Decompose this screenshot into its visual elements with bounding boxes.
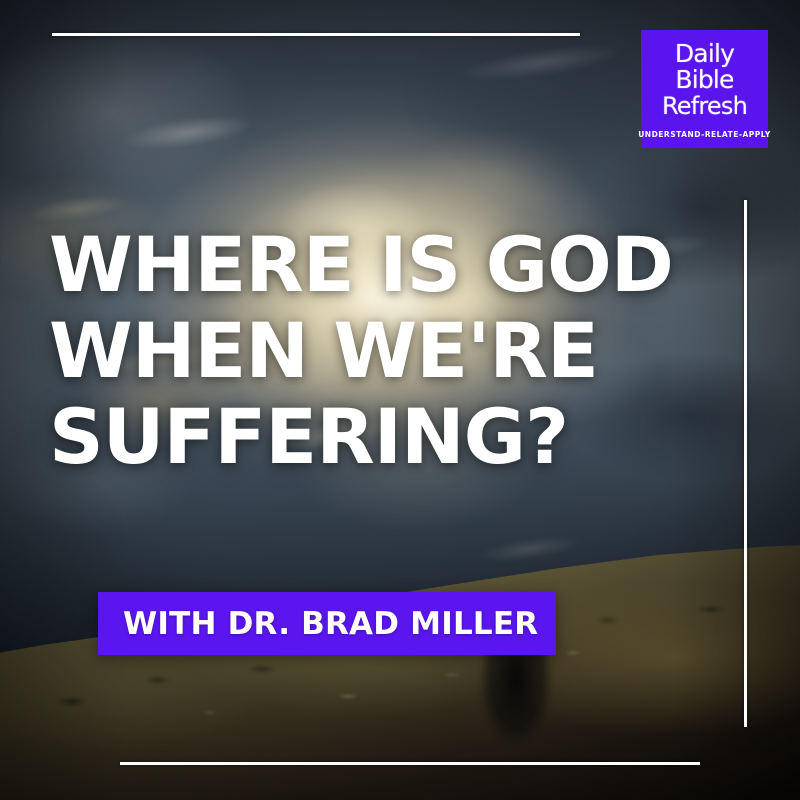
- speaker-name-label: WITH DR. BRAD MILLER: [123, 606, 538, 642]
- title-line-2: WHEN WE'RE: [49, 308, 709, 394]
- logo-tagline: UNDERSTAND-RELATE-APPLY: [638, 130, 771, 139]
- logo-line-bible: Bible: [675, 67, 733, 93]
- logo-line-daily: Daily: [675, 41, 734, 67]
- speaker-banner: WITH DR. BRAD MILLER: [98, 592, 556, 655]
- logo-line-refresh: Refresh: [662, 93, 747, 119]
- podcast-cover-graphic: Daily Bible Refresh UNDERSTAND-RELATE-AP…: [0, 0, 800, 800]
- vertical-rule-right: [744, 200, 747, 727]
- brand-logo-badge[interactable]: Daily Bible Refresh UNDERSTAND-RELATE-AP…: [641, 30, 768, 148]
- title-line-1: WHERE IS GOD: [49, 222, 709, 308]
- title-line-3: SUFFERING?: [49, 394, 709, 480]
- horizontal-rule-top: [52, 33, 580, 36]
- episode-title: WHERE IS GOD WHEN WE'RE SUFFERING?: [49, 222, 709, 480]
- horizontal-rule-bottom: [120, 762, 700, 765]
